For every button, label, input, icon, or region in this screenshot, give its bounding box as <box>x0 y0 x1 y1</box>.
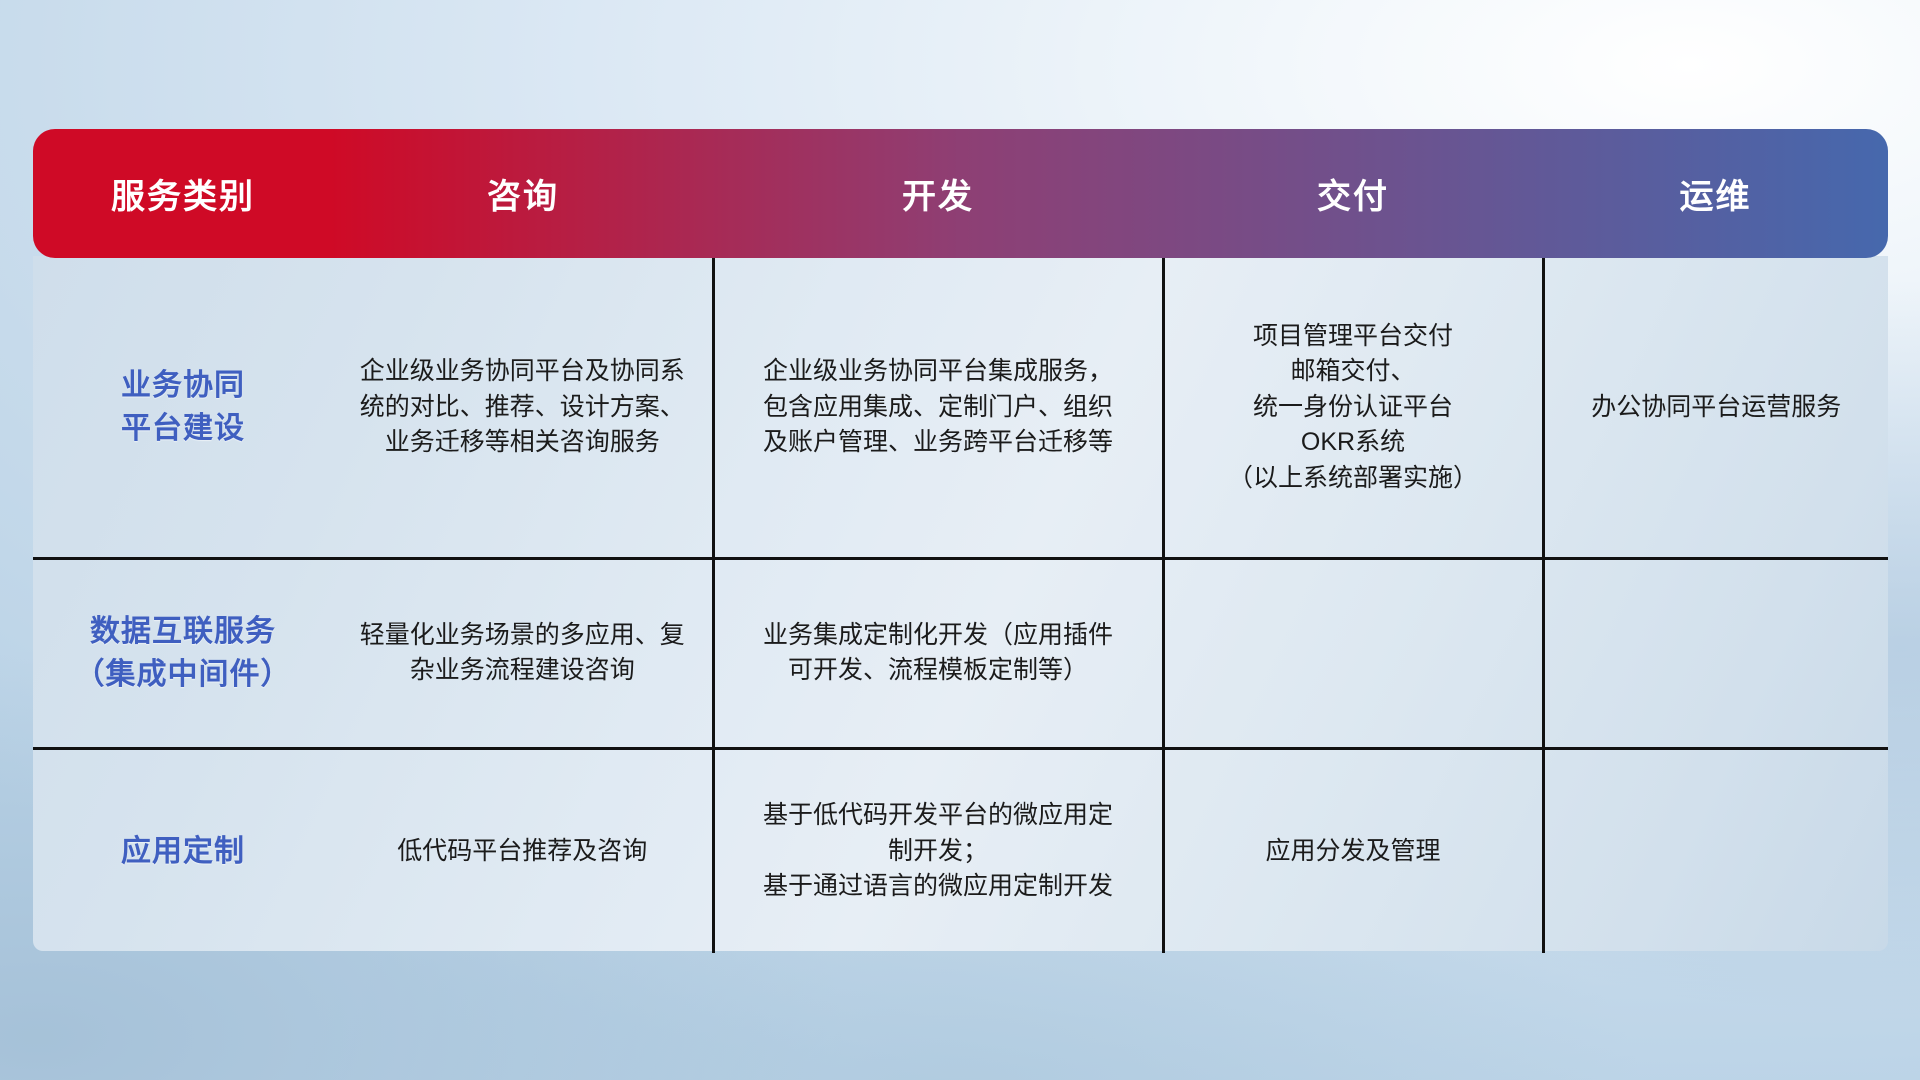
service-matrix-card: 服务类别 咨询 开发 交付 运维 业务协同平台建设 企业级业务协同平台及协同系统… <box>33 129 1888 951</box>
cell-operations <box>1543 748 1888 953</box>
row-category-label: 应用定制 <box>33 748 333 953</box>
table-body: 业务协同平台建设 企业级业务协同平台及协同系统的对比、推荐、设计方案、业务迁移等… <box>33 258 1888 953</box>
row-category-label: 数据互联服务（集成中间件） <box>33 558 333 748</box>
cell-development: 业务集成定制化开发（应用插件可开发、流程模板定制等） <box>713 558 1163 748</box>
header-row: 服务类别 咨询 开发 交付 运维 <box>33 129 1888 258</box>
table-row: 业务协同平台建设 企业级业务协同平台及协同系统的对比、推荐、设计方案、业务迁移等… <box>33 258 1888 558</box>
cell-delivery: 应用分发及管理 <box>1163 748 1543 953</box>
cell-development: 基于低代码开发平台的微应用定制开发；基于通过语言的微应用定制开发 <box>713 748 1163 953</box>
column-header-development: 开发 <box>713 129 1163 258</box>
table-header: 服务类别 咨询 开发 交付 运维 <box>33 129 1888 258</box>
column-header-category: 服务类别 <box>33 129 333 258</box>
cell-operations: 办公协同平台运营服务 <box>1543 258 1888 558</box>
column-header-delivery: 交付 <box>1163 129 1543 258</box>
table-row: 数据互联服务（集成中间件） 轻量化业务场景的多应用、复杂业务流程建设咨询 业务集… <box>33 558 1888 748</box>
cell-delivery: 项目管理平台交付邮箱交付、统一身份认证平台OKR系统（以上系统部署实施） <box>1163 258 1543 558</box>
cell-consulting: 轻量化业务场景的多应用、复杂业务流程建设咨询 <box>333 558 713 748</box>
service-matrix-table: 服务类别 咨询 开发 交付 运维 业务协同平台建设 企业级业务协同平台及协同系统… <box>33 129 1888 953</box>
slide-canvas: 服务类别 咨询 开发 交付 运维 业务协同平台建设 企业级业务协同平台及协同系统… <box>0 0 1920 1080</box>
cell-consulting: 低代码平台推荐及咨询 <box>333 748 713 953</box>
row-category-label: 业务协同平台建设 <box>33 258 333 558</box>
cell-delivery <box>1163 558 1543 748</box>
column-header-consulting: 咨询 <box>333 129 713 258</box>
cell-operations <box>1543 558 1888 748</box>
cell-consulting: 企业级业务协同平台及协同系统的对比、推荐、设计方案、业务迁移等相关咨询服务 <box>333 258 713 558</box>
table-row: 应用定制 低代码平台推荐及咨询 基于低代码开发平台的微应用定制开发；基于通过语言… <box>33 748 1888 953</box>
cell-development: 企业级业务协同平台集成服务，包含应用集成、定制门户、组织及账户管理、业务跨平台迁… <box>713 258 1163 558</box>
column-header-operations: 运维 <box>1543 129 1888 258</box>
